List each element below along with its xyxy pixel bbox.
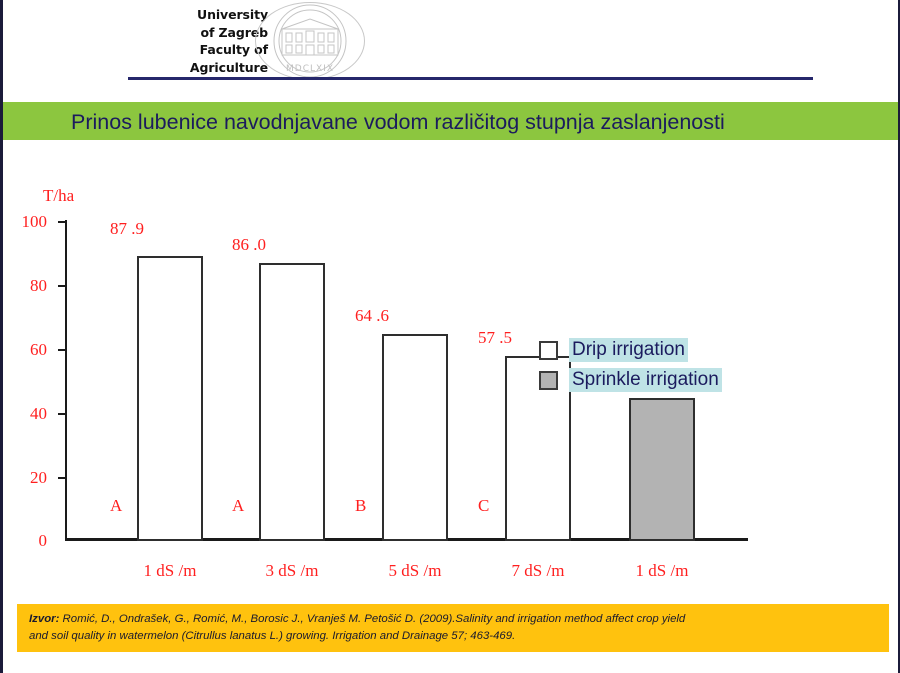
y-axis-line xyxy=(65,220,67,540)
y-tick-label-100: 100 xyxy=(3,212,47,232)
header-divider xyxy=(128,77,813,80)
logo-line-1: University xyxy=(153,6,268,24)
bar-5[interactable] xyxy=(629,398,695,541)
y-tick-label-80: 80 xyxy=(3,276,47,296)
slide-header: University of Zagreb Faculty of Agricult… xyxy=(3,0,900,95)
y-tick-label-60: 60 xyxy=(3,340,47,360)
chart-legend: Drip irrigation Sprinkle irrigation xyxy=(539,338,722,398)
bar-letter-4: C xyxy=(478,496,489,516)
bar-3[interactable] xyxy=(382,334,448,541)
y-tick-label-40: 40 xyxy=(3,404,47,424)
svg-text:MDCLXIX: MDCLXIX xyxy=(286,64,334,74)
y-tick-label-0: 0 xyxy=(3,531,47,551)
citation-text-1: Romić, D., Ondrašek, G., Romić, M., Boro… xyxy=(59,613,685,625)
y-axis-title: T/ha xyxy=(43,186,74,206)
title-band: Prinos lubenice navodnjavane vodom razli… xyxy=(3,102,900,140)
university-seal-icon: MDCLXIX xyxy=(255,2,365,80)
x-tick-label-4: 7 dS /m xyxy=(478,561,598,581)
university-logo-text: University of Zagreb Faculty of Agricult… xyxy=(153,6,268,76)
bar-value-label-3: 64 .6 xyxy=(355,306,389,326)
legend-swatch-gray-icon xyxy=(539,371,558,390)
bar-letter-2: A xyxy=(232,496,244,516)
x-tick-label-2: 3 dS /m xyxy=(232,561,352,581)
university-logo: University of Zagreb Faculty of Agricult… xyxy=(153,2,383,82)
legend-swatch-white-icon xyxy=(539,341,558,360)
x-tick-label-5: 1 dS /m xyxy=(602,561,722,581)
bar-2[interactable] xyxy=(259,263,325,541)
bar-chart: T/ha 100 80 60 40 20 0 87 .9 A 86 .0 A 6… xyxy=(3,150,900,595)
citation-line-1: Izvor: Romić, D., Ondrašek, G., Romić, M… xyxy=(29,611,877,628)
logo-line-2: of Zagreb xyxy=(153,24,268,42)
bar-value-label-2: 86 .0 xyxy=(232,235,266,255)
source-citation: Izvor: Romić, D., Ondrašek, G., Romić, M… xyxy=(17,604,889,652)
logo-line-3: Faculty of xyxy=(153,41,268,59)
y-tick-label-20: 20 xyxy=(3,468,47,488)
bar-value-label-4: 57 .5 xyxy=(478,328,512,348)
x-tick-label-1: 1 dS /m xyxy=(110,561,230,581)
legend-item-sprinkle-irrigation[interactable]: Sprinkle irrigation xyxy=(539,368,722,392)
y-tick-mark-20 xyxy=(58,477,66,479)
citation-source-label: Izvor: xyxy=(29,613,59,625)
bar-value-label-1: 87 .9 xyxy=(110,219,144,239)
slide-canvas: University of Zagreb Faculty of Agricult… xyxy=(0,0,900,673)
legend-label-drip-irrigation: Drip irrigation xyxy=(569,338,688,362)
y-tick-mark-60 xyxy=(58,349,66,351)
x-tick-label-3: 5 dS /m xyxy=(355,561,475,581)
bar-1[interactable] xyxy=(137,256,203,541)
logo-line-4: Agriculture xyxy=(153,59,268,77)
page-title: Prinos lubenice navodnjavane vodom razli… xyxy=(71,110,725,135)
citation-line-2: and soil quality in watermelon (Citrullu… xyxy=(29,628,877,645)
legend-label-sprinkle-irrigation: Sprinkle irrigation xyxy=(569,368,722,392)
bar-letter-3: B xyxy=(355,496,366,516)
legend-item-drip-irrigation[interactable]: Drip irrigation xyxy=(539,338,722,362)
y-tick-mark-80 xyxy=(58,285,66,287)
bar-letter-1: A xyxy=(110,496,122,516)
y-tick-mark-100 xyxy=(58,221,66,223)
y-tick-mark-40 xyxy=(58,413,66,415)
